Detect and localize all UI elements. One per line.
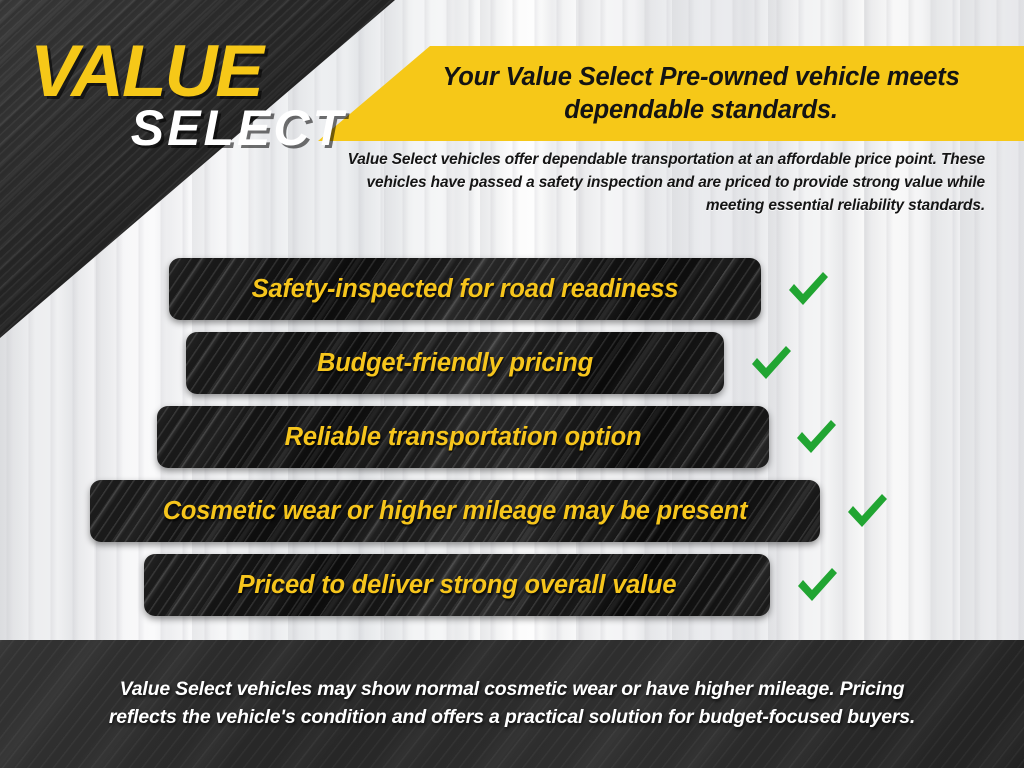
headline-banner: Your Value Select Pre-owned vehicle meet…	[318, 46, 1024, 141]
brand-logo: VALUE SELECT	[30, 38, 350, 153]
feature-row: Cosmetic wear or higher mileage may be p…	[0, 480, 1006, 542]
check-icon	[740, 342, 802, 384]
feature-label: Priced to deliver strong overall value	[238, 571, 677, 600]
feature-bar: Priced to deliver strong overall value	[144, 554, 770, 616]
intro-paragraph: Value Select vehicles offer dependable t…	[330, 148, 985, 217]
feature-bar: Cosmetic wear or higher mileage may be p…	[90, 480, 820, 542]
check-icon	[777, 268, 839, 310]
logo-word-value: VALUE	[30, 38, 350, 105]
check-icon	[836, 490, 898, 532]
headline-text: Your Value Select Pre-owned vehicle meet…	[401, 61, 1001, 126]
feature-row: Budget-friendly pricing	[0, 332, 1006, 394]
feature-label: Reliable transportation option	[285, 423, 642, 452]
feature-label: Cosmetic wear or higher mileage may be p…	[163, 497, 748, 526]
feature-bar: Budget-friendly pricing	[186, 332, 724, 394]
feature-bar: Safety-inspected for road readiness	[169, 258, 761, 320]
value-select-poster: Your Value Select Pre-owned vehicle meet…	[0, 0, 1024, 768]
check-icon	[786, 564, 848, 606]
feature-row: Safety-inspected for road readiness	[0, 258, 1016, 320]
check-icon	[785, 416, 847, 458]
disclaimer-footer: Value Select vehicles may show normal co…	[0, 640, 1024, 768]
feature-list: Safety-inspected for road readiness Budg…	[0, 258, 1024, 628]
feature-label: Budget-friendly pricing	[317, 349, 593, 378]
feature-bar: Reliable transportation option	[157, 406, 769, 468]
feature-label: Safety-inspected for road readiness	[252, 275, 679, 304]
disclaimer-text: Value Select vehicles may show normal co…	[97, 676, 927, 731]
feature-row: Reliable transportation option	[0, 406, 1014, 468]
feature-row: Priced to deliver strong overall value	[0, 554, 1008, 616]
